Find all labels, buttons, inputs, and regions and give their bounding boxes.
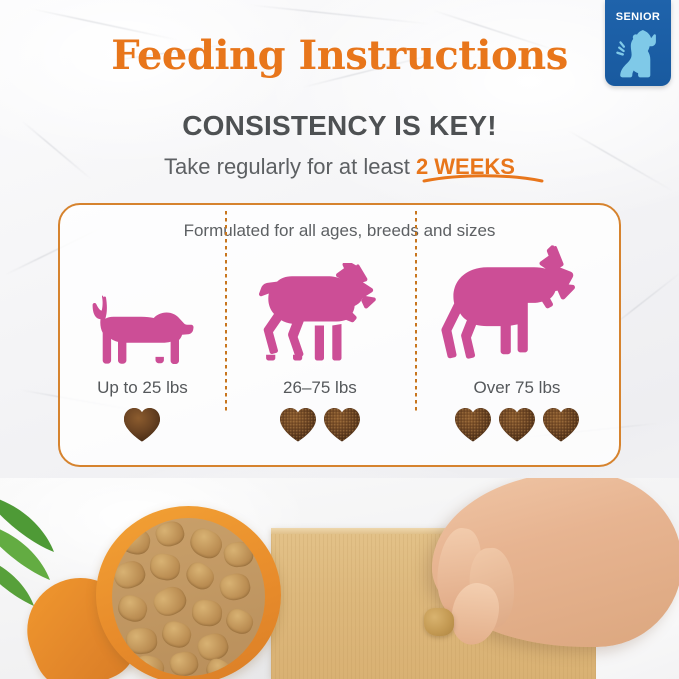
single-kibble-treat (424, 608, 454, 636)
feeding-chart-card: Formulated for all ages, breeds and size… (58, 203, 621, 467)
kibble-heart-icon (453, 406, 493, 443)
kibble-group (453, 406, 581, 443)
small-dog-silhouette (90, 249, 194, 369)
subtitle: CONSISTENCY IS KEY! (0, 110, 679, 142)
large-dog-silhouette (441, 249, 593, 369)
badge-label: SENIOR (605, 11, 671, 23)
size-label: Up to 25 lbs (97, 378, 188, 398)
card-heading: Formulated for all ages, breeds and size… (60, 221, 619, 241)
kibble-group (122, 406, 162, 443)
kibble-pile (112, 518, 265, 676)
page-title: Feeding Instructions (0, 36, 679, 76)
kibble-heart-icon (497, 406, 537, 443)
medium-dog-silhouette (251, 249, 389, 369)
kibble-heart-icon (278, 406, 318, 443)
size-label: Over 75 lbs (473, 378, 560, 398)
tagline-highlight: 2 WEEKS (416, 154, 515, 179)
product-photo (0, 478, 679, 679)
kibble-heart-icon (322, 406, 362, 443)
size-column-large: Over 75 lbs (415, 249, 619, 467)
size-label: 26–75 lbs (283, 378, 357, 398)
kibble-heart-icon (541, 406, 581, 443)
size-columns: Up to 25 lbs (60, 249, 619, 467)
infographic-root: SENIOR Feeding Instructions CONSISTENCY … (0, 0, 679, 679)
tagline: Take regularly for at least 2 WEEKS (0, 154, 679, 180)
size-column-small: Up to 25 lbs (60, 249, 225, 467)
kibble-group (278, 406, 362, 443)
kibble-heart-icon (122, 406, 162, 443)
tagline-prefix: Take regularly for at least (164, 154, 416, 179)
size-column-medium: 26–75 lbs (225, 249, 415, 467)
